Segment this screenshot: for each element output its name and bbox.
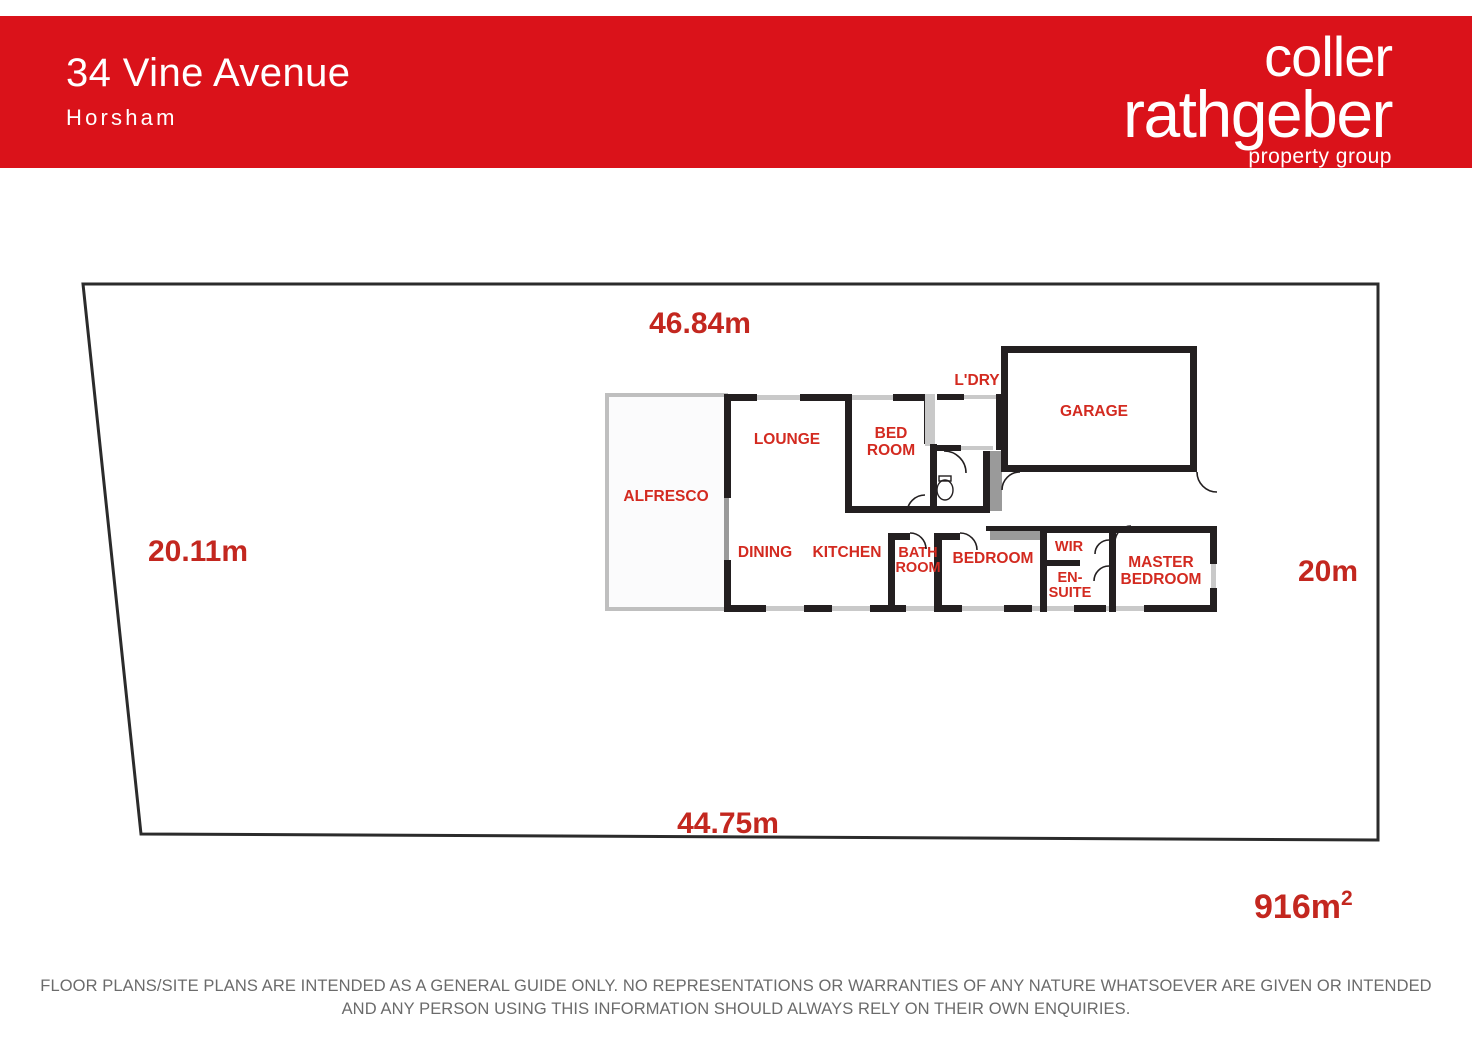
dimension-top: 46.84m xyxy=(649,307,751,340)
wall-bedroom-top-a xyxy=(942,533,960,540)
room-label-ensuite-line2: SUITE xyxy=(1049,585,1092,601)
window-bedroom-front xyxy=(848,395,893,400)
room-label-lounge: LOUNGE xyxy=(754,431,820,448)
window-bedroom xyxy=(962,606,1004,611)
wall-left-lower xyxy=(724,560,731,612)
site-area-superscript: 2 xyxy=(1341,887,1353,910)
room-label-kitchen: KITCHEN xyxy=(813,544,882,561)
dimension-bottom: 44.75m xyxy=(677,807,779,840)
wall-bathroom-left xyxy=(888,533,895,612)
room-alfresco: ALFRESCO xyxy=(605,393,728,611)
site-plan-canvas: 46.84m 20.11m 20m 44.75m 916m2 ALFRESCO xyxy=(0,168,1472,958)
header-banner: 34 Vine Avenue Horsham coller rathgeber … xyxy=(0,16,1472,168)
room-label-dining: DINING xyxy=(738,544,792,561)
window-bedroom-side xyxy=(925,394,935,446)
address-street: 34 Vine Avenue xyxy=(66,48,350,98)
wall-wir-top xyxy=(1040,526,1116,533)
wall-garage-bottom xyxy=(1001,465,1197,472)
wall-bedroom-front-bottom xyxy=(845,506,930,513)
room-label-laundry: L'DRY xyxy=(954,372,1000,389)
svg-text:BED: BED xyxy=(875,425,908,442)
wall-wir-right xyxy=(1109,526,1116,566)
room-label-bedroom: BEDROOM xyxy=(953,550,1034,567)
wall-toilet-right xyxy=(983,451,990,513)
disclaimer: FLOOR PLANS/SITE PLANS ARE INTENDED AS A… xyxy=(0,975,1472,1021)
room-label-master-line2: BEDROOM xyxy=(1121,571,1202,588)
address-suburb: Horsham xyxy=(66,102,350,134)
wall-garage-top xyxy=(1001,346,1197,353)
wall-service-grey xyxy=(990,451,1002,511)
window-lounge-1 xyxy=(757,395,800,400)
room-label-master-line1: MASTER xyxy=(1128,554,1193,571)
room-label-bathroom-line2: ROOM xyxy=(895,560,940,576)
svg-text:ROOM: ROOM xyxy=(867,442,915,459)
property-address: 34 Vine Avenue Horsham xyxy=(66,48,350,134)
window-kitchen xyxy=(832,606,870,611)
brand-name-rathgeber: rathgeber xyxy=(1123,84,1392,144)
wall-bedroom-front-left xyxy=(845,394,852,513)
room-label-ensuite-line1: EN- xyxy=(1058,570,1083,586)
wall-toilet-left xyxy=(930,445,937,513)
disclaimer-line-2: AND ANY PERSON USING THIS INFORMATION SH… xyxy=(0,998,1472,1021)
dimension-right: 20m xyxy=(1298,555,1358,588)
window-master-side xyxy=(1211,564,1216,592)
svg-text:916m2: 916m2 xyxy=(1254,887,1353,926)
window-laundry-bottom xyxy=(961,446,993,450)
room-label-alfresco: ALFRESCO xyxy=(623,488,708,505)
brand-name-coller: coller xyxy=(1123,30,1392,84)
site-area-value: 916m xyxy=(1254,888,1341,926)
wall-master-right-upper xyxy=(1210,526,1217,564)
window-alfresco-door xyxy=(724,498,729,560)
wall-toilet-bottom xyxy=(930,506,990,513)
room-label-garage: GARAGE xyxy=(1060,403,1128,420)
site-area: 916m2 xyxy=(1254,887,1353,926)
wall-garage-right xyxy=(1190,346,1197,472)
wall-master-right-lower xyxy=(1210,588,1217,612)
disclaimer-line-1: FLOOR PLANS/SITE PLANS ARE INTENDED AS A… xyxy=(0,975,1472,998)
wall-garage-left xyxy=(1001,346,1008,472)
house-footprint: ALFRESCO L'DRY xyxy=(605,346,1217,612)
window-dining xyxy=(766,606,804,611)
wall-bathroom-top-a xyxy=(888,533,910,540)
wall-master-top xyxy=(1116,526,1217,533)
wall-left-upper xyxy=(724,394,731,498)
window-ensuite xyxy=(1032,606,1074,611)
dimension-left: 20.11m xyxy=(148,535,248,568)
room-label-wir: WIR xyxy=(1055,539,1084,555)
room-label-bathroom-line1: BATH xyxy=(898,545,937,561)
brand-logo: coller rathgeber property group xyxy=(1123,30,1392,170)
wall-ensuite-right xyxy=(1109,566,1116,612)
